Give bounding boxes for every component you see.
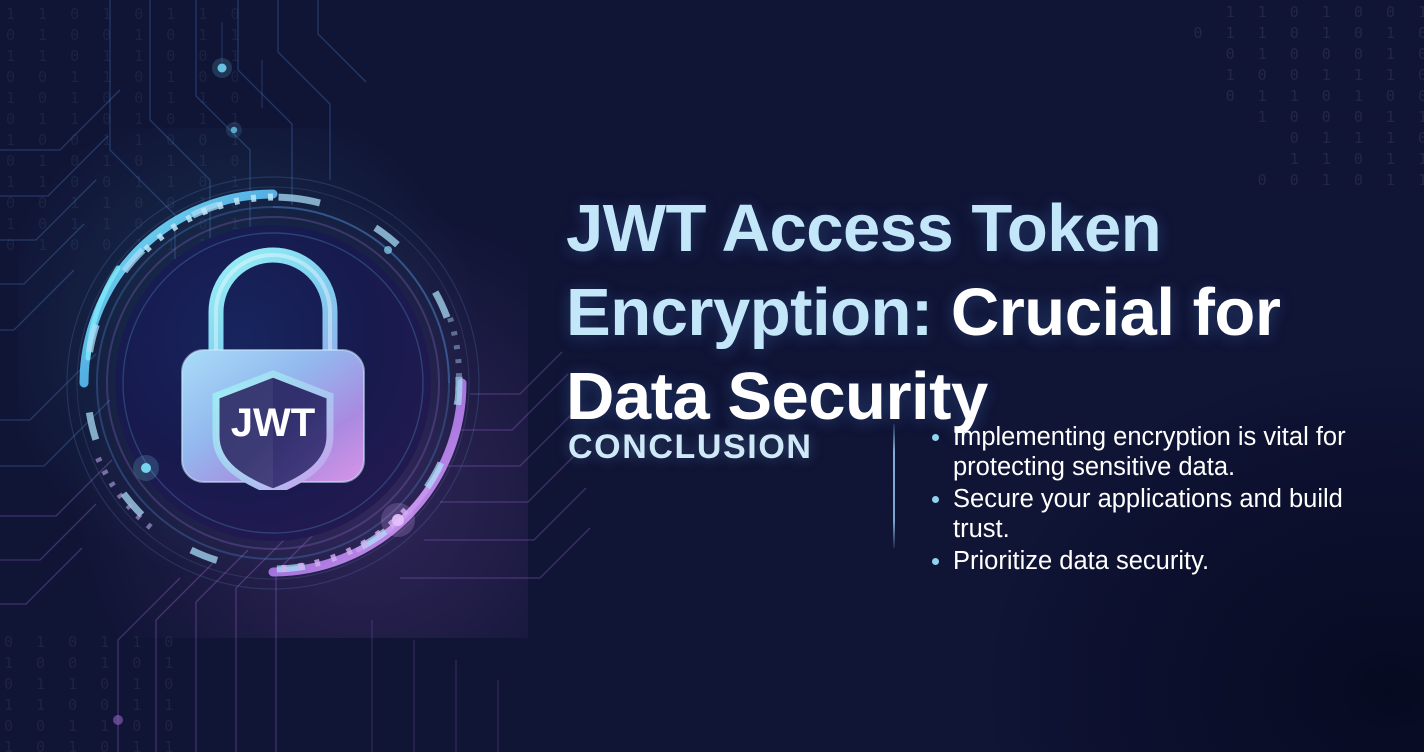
title-line-2-plain: Crucial bbox=[933, 275, 1175, 350]
conclusion-bullet-list: Implementing encryption is vital for pro… bbox=[928, 422, 1398, 578]
vertical-divider bbox=[893, 424, 895, 548]
padlock-icon: JWT bbox=[170, 240, 376, 490]
social-banner-jwt-encryption: 1 1 0 1 0 1 1 0 0 1 0 0 1 0 1 1 1 1 0 1 … bbox=[0, 0, 1424, 752]
jwt-lock-emblem: JWT bbox=[58, 168, 488, 598]
title-line-1: JWT Access Token bbox=[566, 191, 1161, 266]
list-item: Implementing encryption is vital for pro… bbox=[928, 422, 1398, 482]
title-line-2-highlight: Encryption: bbox=[566, 275, 933, 350]
conclusion-section: CONCLUSION Implementing encryption is vi… bbox=[566, 424, 1396, 552]
list-item: Prioritize data security. bbox=[928, 546, 1398, 576]
page-title: JWT Access Token Encryption: Crucial for… bbox=[566, 187, 1326, 439]
list-item: Secure your applications and build trust… bbox=[928, 484, 1398, 544]
conclusion-heading: CONCLUSION bbox=[568, 428, 813, 467]
padlock-jwt-label: JWT bbox=[231, 401, 315, 445]
footer-bar: yourblog.com bbox=[0, 622, 1424, 752]
